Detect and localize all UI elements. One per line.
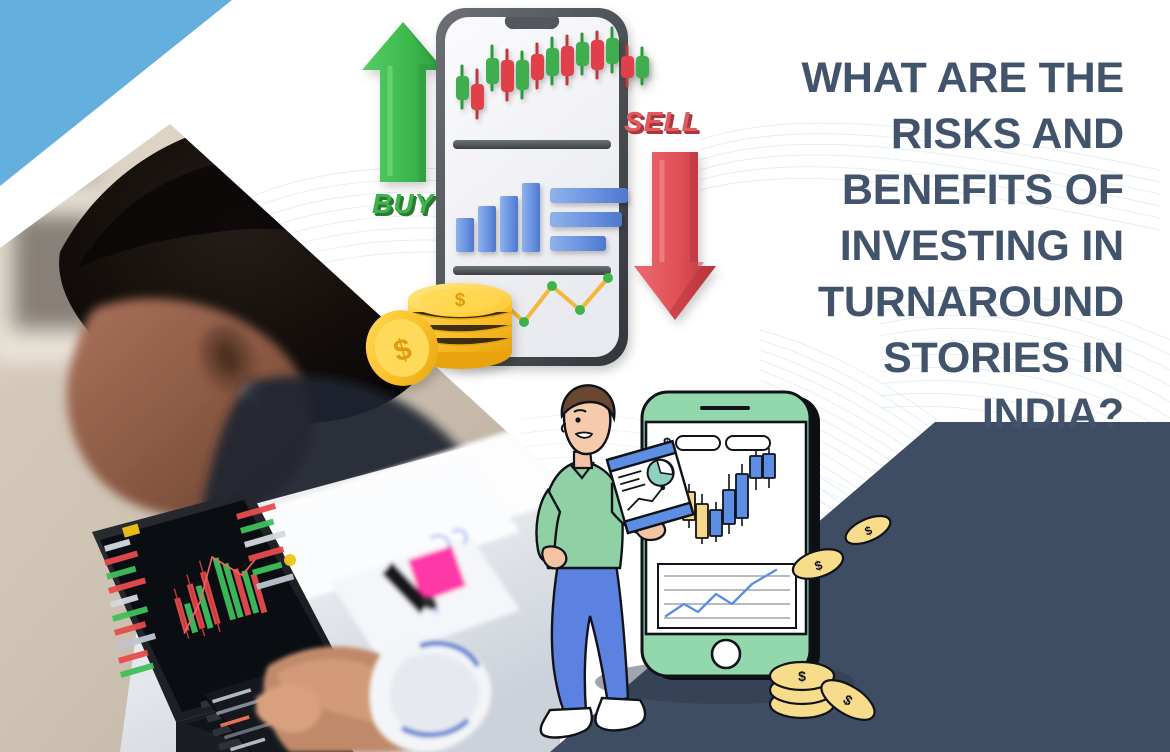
banner-root: $ $ BUY SELL bbox=[0, 0, 1170, 752]
sell-down-arrow bbox=[634, 152, 716, 320]
buy-label: BUY bbox=[372, 188, 434, 220]
illustration-3d-phone: $ $ BUY SELL bbox=[356, 0, 726, 400]
coin-dollar-label-3d: $ bbox=[455, 290, 466, 311]
sell-label: SELL bbox=[624, 106, 700, 138]
phone-speaker bbox=[700, 406, 750, 410]
coin-dollar-label-flat-3: $ bbox=[798, 668, 806, 684]
phone-pill-button-1[interactable] bbox=[676, 436, 720, 450]
gold-coin-stack-3d: $ $ bbox=[357, 283, 512, 394]
chart-line-card-flat bbox=[658, 564, 796, 628]
buy-up-arrow bbox=[362, 22, 444, 182]
phone-divider-1 bbox=[453, 140, 611, 149]
phone-divider-2 bbox=[453, 266, 611, 275]
phone-home-button[interactable] bbox=[712, 640, 740, 668]
page-title: WHAT ARE THE RISKS AND BENEFITS OF INVES… bbox=[754, 50, 1124, 442]
